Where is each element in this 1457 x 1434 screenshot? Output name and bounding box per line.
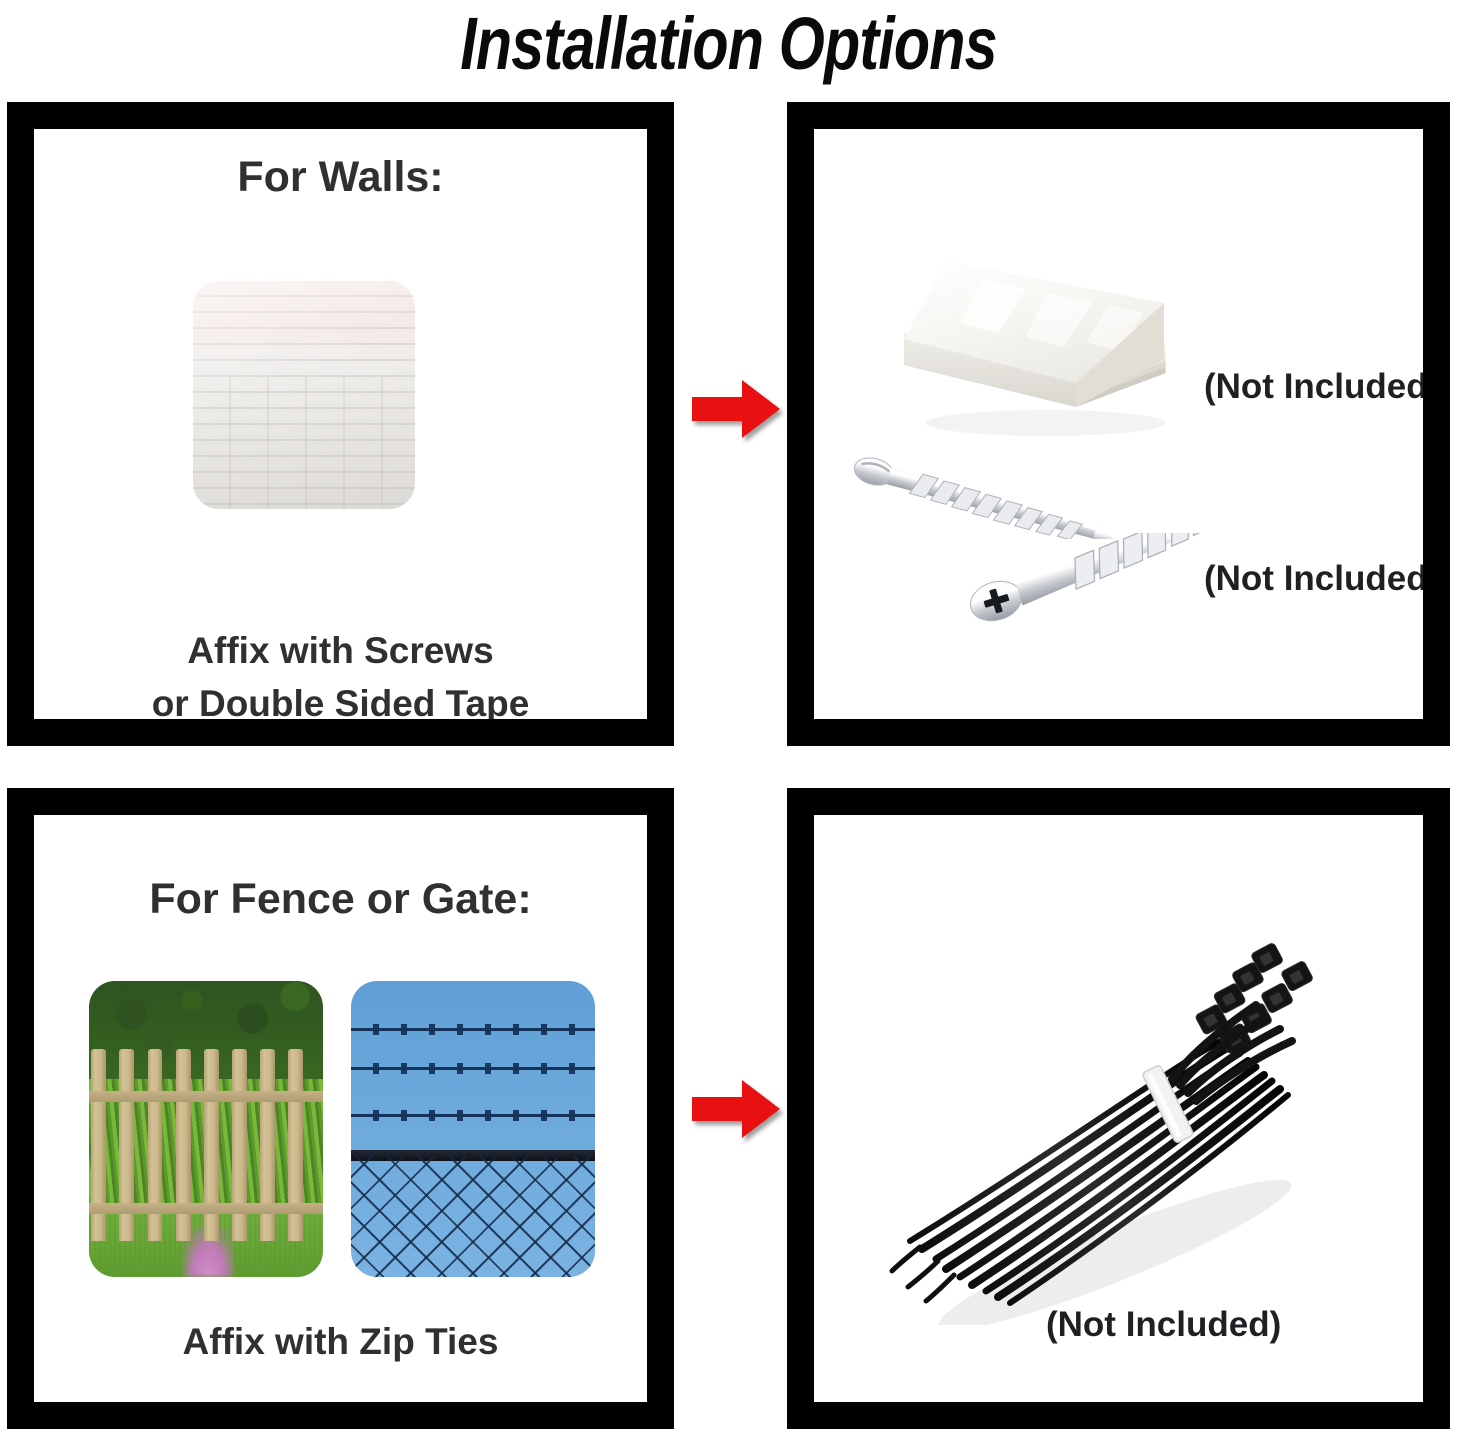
red-right-arrow-icon [690, 1078, 782, 1140]
screws-not-included-label: (Not Included) [1204, 559, 1423, 599]
panel-for-walls: For Walls: Affix with Screws or Double S… [7, 102, 674, 746]
panel-for-fence-or-gate-content: For Fence or Gate: [34, 815, 647, 1402]
tape-not-included-label: (Not Included) [1204, 367, 1423, 407]
double-sided-tape-stack [886, 247, 1186, 437]
for-walls-caption: Affix with Screws or Double Sided Tape [34, 624, 647, 719]
fence-pickets [89, 1049, 323, 1241]
zip-ties-not-included-label: (Not Included) [1046, 1305, 1281, 1345]
for-fence-heading: For Fence or Gate: [34, 875, 647, 924]
panel-zip-ties: (Not Included) [787, 788, 1450, 1429]
panel-wall-hardware-content: (Not Included) [814, 129, 1423, 719]
barbed-wire-strand [351, 1028, 595, 1031]
silver-wood-screw [852, 449, 1162, 539]
chain-link-mesh [351, 1156, 595, 1277]
wooden-picket-fence-photo [89, 981, 323, 1277]
panel-wall-hardware: (Not Included) [787, 102, 1450, 746]
panel-zip-ties-content: (Not Included) [814, 815, 1423, 1402]
red-right-arrow-icon [690, 378, 782, 440]
panel-for-walls-content: For Walls: Affix with Screws or Double S… [34, 129, 647, 719]
panel-for-fence-or-gate: For Fence or Gate: [7, 788, 674, 1429]
for-walls-caption-line-2: or Double Sided Tape [34, 677, 647, 719]
barbed-wire-strand [351, 1114, 595, 1117]
for-fence-caption: Affix with Zip Ties [34, 1315, 647, 1368]
for-walls-caption-line-1: Affix with Screws [34, 624, 647, 677]
chain-link-barbed-wire-fence-photo [351, 981, 595, 1277]
brick-shading-overlay [193, 281, 415, 509]
white-brick-wall-thumbnail [193, 281, 415, 509]
barbed-wire-strand [351, 1067, 595, 1070]
page-title: Installation Options [146, 0, 1312, 90]
black-zip-tie-bundle [880, 925, 1350, 1325]
for-walls-heading: For Walls: [34, 153, 647, 202]
